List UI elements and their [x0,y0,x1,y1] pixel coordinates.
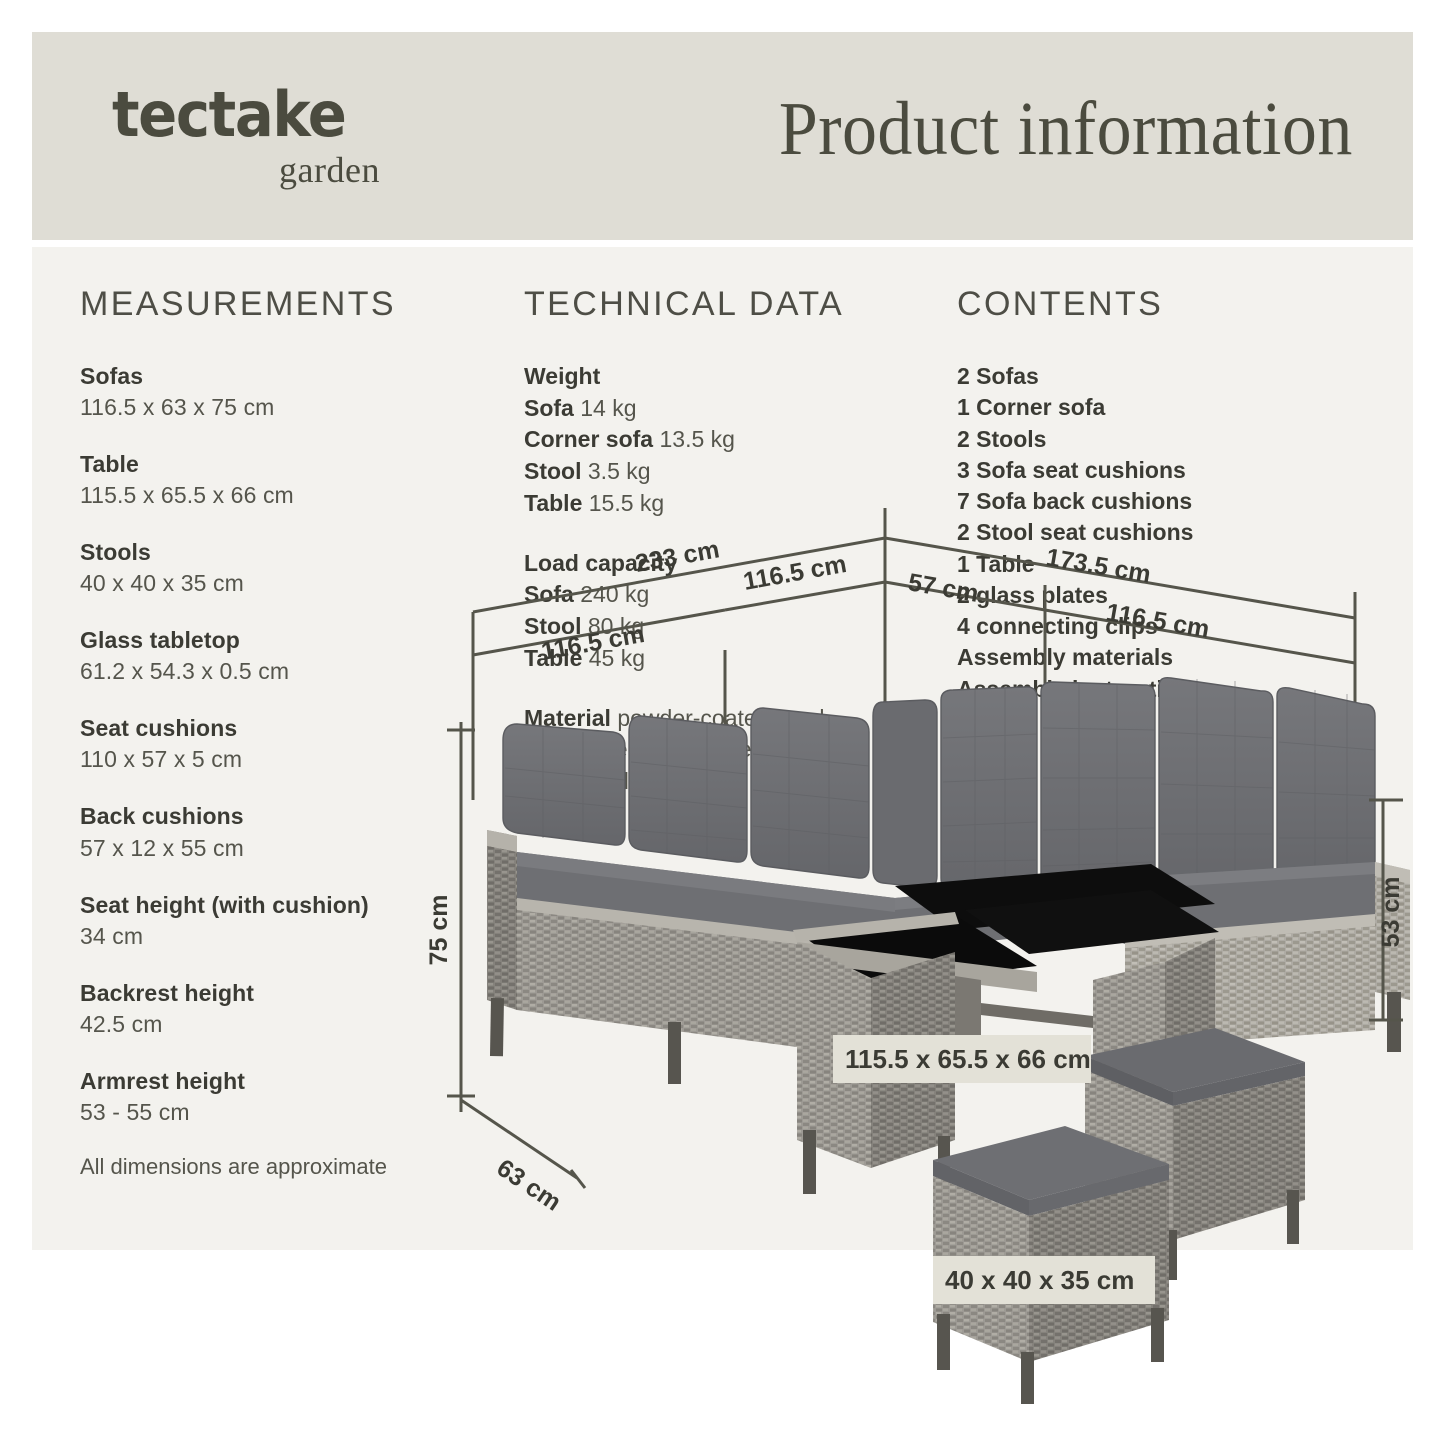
product-information-sheet: tectake garden Product information MEASU… [0,0,1445,1445]
weight-row-name: Stool [524,458,582,484]
spec-label: Sofas [80,361,480,392]
dim-173-label: 173.5 cm [1044,543,1153,588]
weight-heading: Weight [524,361,924,393]
spec-value: 34 cm [80,921,480,952]
header-band: tectake garden Product information [32,32,1413,240]
spec-seat-height: Seat height (with cushion) 34 cm [80,890,480,952]
corner-back-cushion [873,687,1037,898]
dim-116-mid-label: 116.5 cm [741,550,849,596]
left-sofa-back-cushions [503,708,869,878]
spec-armrest-height: Armrest height 53 - 55 cm [80,1066,480,1128]
dim-57-label: 57 cm [906,568,981,608]
spec-label: Table [80,449,480,480]
technical-data-title: TECHNICAL DATA [524,285,924,324]
measurements-column: MEASUREMENTS Sofas 116.5 x 63 x 75 cm Ta… [80,285,480,1180]
contents-title: CONTENTS [957,285,1387,324]
list-item: 2 Sofas [957,361,1387,392]
spec-value: 116.5 x 63 x 75 cm [80,392,480,423]
spec-label: Seat height (with cushion) [80,890,480,921]
spec-glass-tabletop: Glass tabletop 61.2 x 54.3 x 0.5 cm [80,625,480,687]
callout-table: 115.5 x 65.5 x 66 cm [833,1035,1091,1083]
spec-value: 61.2 x 54.3 x 0.5 cm [80,656,480,687]
spec-table: Table 115.5 x 65.5 x 66 cm [80,449,480,511]
callout-stool: 40 x 40 x 35 cm [933,1256,1155,1304]
callout-table-text: 115.5 x 65.5 x 66 cm [845,1044,1091,1074]
spec-value: 53 - 55 cm [80,1097,480,1128]
brand-logo: tectake garden [112,84,432,188]
dim-75-label: 75 cm [425,895,453,966]
spec-sofas: Sofas 116.5 x 63 x 75 cm [80,361,480,423]
weight-row-value: 14 kg [580,395,636,421]
spec-value: 42.5 cm [80,1009,480,1040]
dim-233-label: 233 cm [633,535,721,578]
weight-row: Stool 3.5 kg [524,456,924,488]
spec-seat-cushions: Seat cushions 110 x 57 x 5 cm [80,713,480,775]
spec-label: Glass tabletop [80,625,480,656]
weight-row-value: 3.5 kg [588,458,651,484]
spec-label: Armrest height [80,1066,480,1097]
spec-label: Backrest height [80,978,480,1009]
list-item: 2 Stools [957,424,1387,455]
weight-row-name: Sofa [524,395,574,421]
spec-value: 57 x 12 x 55 cm [80,833,480,864]
logo-subtitle: garden [112,152,380,188]
weight-row: Sofa 14 kg [524,393,924,425]
measurements-title: MEASUREMENTS [80,285,480,324]
page-title: Product information [779,82,1353,177]
spec-back-cushions: Back cushions 57 x 12 x 55 cm [80,801,480,863]
weight-row: Corner sofa 13.5 kg [524,424,924,456]
spec-value: 110 x 57 x 5 cm [80,744,480,775]
logo-wordmark: tectake [112,84,410,146]
dim-116-right-label: 116.5 cm [1104,598,1211,643]
spec-stools: Stools 40 x 40 x 35 cm [80,537,480,599]
spec-label: Stools [80,537,480,568]
weight-row-value: 13.5 kg [659,426,734,452]
weight-row-name: Corner sofa [524,426,653,452]
spec-label: Back cushions [80,801,480,832]
dim-53-label: 53 cm [1377,877,1405,948]
right-sofa-back-cushions [1041,678,1375,898]
spec-label: Seat cushions [80,713,480,744]
spec-value: 115.5 x 65.5 x 66 cm [80,480,480,511]
spec-value: 40 x 40 x 35 cm [80,568,480,599]
measurements-footnote: All dimensions are approximate [80,1154,480,1180]
weight-group: Weight Sofa 14 kg Corner sofa 13.5 kg St… [524,361,924,520]
callout-stool-text: 40 x 40 x 35 cm [945,1265,1134,1295]
list-item: 1 Corner sofa [957,392,1387,423]
product-dimension-diagram: 233 cm 116.5 cm 116.5 cm 173.5 cm 57 cm … [425,500,1415,1430]
dim-116-left-label: 116.5 cm [539,620,647,666]
list-item: 3 Sofa seat cushions [957,455,1387,486]
spec-backrest-height: Backrest height 42.5 cm [80,978,480,1040]
